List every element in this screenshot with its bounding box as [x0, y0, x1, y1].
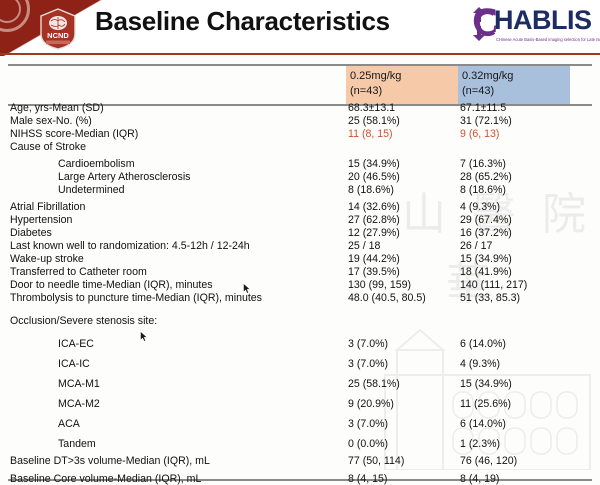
row-label: Undetermined	[58, 184, 125, 196]
column-header-dose-025-label: 0.25mg/kg	[350, 70, 401, 82]
svg-text:NCND: NCND	[47, 31, 69, 40]
row-value-dose-032: 8 (4, 19)	[460, 473, 499, 485]
table-row: Age, yrs-Mean (SD)68.3±13.167.1±11.5	[0, 102, 600, 115]
row-label: Tandem	[58, 438, 96, 450]
row-value-dose-025: 14 (32.6%)	[348, 201, 400, 213]
table-row: Door to needle time-Median (IQR), minute…	[0, 279, 600, 292]
table-row: Thrombolysis to puncture time-Median (IQ…	[0, 292, 600, 305]
table-row: Cardioembolism15 (34.9%)7 (16.3%)	[0, 158, 600, 171]
row-value-dose-032: 67.1±11.5	[460, 102, 506, 114]
row-label: Age, yrs-Mean (SD)	[10, 102, 104, 114]
row-label: Baseline DT>3s volume-Median (IQR), mL	[10, 455, 210, 467]
table-row: Last known well to randomization: 4.5-12…	[0, 240, 600, 253]
row-value-dose-032: 140 (111, 217)	[460, 279, 527, 291]
row-label: Male sex-No. (%)	[10, 115, 92, 127]
table-row: Hypertension27 (62.8%)29 (67.4%)	[0, 214, 600, 227]
row-value-dose-025: 25 (58.1%)	[348, 115, 400, 127]
column-header-dose-025: 0.25mg/kg (n=43)	[346, 66, 458, 104]
row-value-dose-032: 15 (34.9%)	[460, 253, 512, 265]
table-row: Large Artery Atherosclerosis20 (46.5%)28…	[0, 171, 600, 184]
row-label: Diabetes	[10, 227, 52, 239]
page-title: Baseline Characteristics	[95, 6, 390, 37]
row-value-dose-025: 8 (4, 15)	[348, 473, 387, 485]
row-label: Wake-up stroke	[10, 253, 84, 265]
slide-header: NCND Baseline Characteristics C HABLIS C…	[0, 0, 600, 56]
ncnd-logo-icon: NCND	[38, 8, 78, 50]
mouse-cursor-icon	[243, 283, 251, 294]
row-label: Hypertension	[10, 214, 72, 226]
row-value-dose-032: 6 (14.0%)	[460, 338, 506, 350]
chablis-wordmark: HABLIS	[494, 5, 592, 36]
row-label: Occlusion/Severe stenosis site:	[10, 315, 157, 327]
row-value-dose-032: 11 (25.6%)	[460, 398, 511, 410]
row-label: Last known well to randomization: 4.5-12…	[10, 240, 250, 252]
row-value-dose-025: 25 / 18	[348, 240, 380, 252]
row-value-dose-032: 76 (46, 120)	[460, 455, 517, 467]
row-label: Baseline Core volume-Median (IQR), mL	[10, 473, 201, 485]
row-value-dose-025: 77 (50, 114)	[348, 455, 404, 467]
row-value-dose-025: 20 (46.5%)	[348, 171, 400, 183]
row-value-dose-032: 29 (67.4%)	[460, 214, 512, 226]
row-value-dose-025: 9 (20.9%)	[348, 398, 394, 410]
row-value-dose-032: 4 (9.3%)	[460, 201, 500, 213]
row-value-dose-032: 7 (16.3%)	[460, 158, 506, 170]
table-row: Male sex-No. (%)25 (58.1%)31 (72.1%)	[0, 115, 600, 128]
row-value-dose-032: 4 (9.3%)	[460, 358, 500, 370]
header-divider	[0, 53, 600, 55]
table-row: Baseline DT>3s volume-Median (IQR), mL77…	[0, 455, 600, 468]
row-value-dose-025: 11 (8, 15)	[348, 128, 393, 140]
row-value-dose-032: 9 (6, 13)	[460, 128, 499, 140]
row-label: Thrombolysis to puncture time-Median (IQ…	[10, 292, 262, 304]
table-row: ACA3 (7.0%)6 (14.0%)	[0, 418, 600, 431]
row-value-dose-025: 15 (34.9%)	[348, 158, 400, 170]
table-row: NIHSS score-Median (IQR)11 (8, 15)9 (6, …	[0, 128, 600, 141]
presentation-slide: 山 醫 院 華	[0, 0, 600, 485]
table-row: ICA-EC3 (7.0%)6 (14.0%)	[0, 338, 600, 351]
row-value-dose-025: 68.3±13.1	[348, 102, 395, 114]
row-value-dose-025: 130 (99, 159)	[348, 279, 411, 291]
column-header-dose-025-n: (n=43)	[350, 84, 458, 99]
mouse-cursor-icon	[140, 331, 148, 342]
row-value-dose-025: 3 (7.0%)	[348, 358, 388, 370]
row-label: Door to needle time-Median (IQR), minute…	[10, 279, 213, 291]
row-value-dose-025: 8 (18.6%)	[348, 184, 394, 196]
table-row: MCA-M125 (58.1%)15 (34.9%)	[0, 378, 600, 391]
row-label: Cause of Stroke	[10, 141, 86, 153]
row-label: ICA-IC	[58, 358, 90, 370]
row-label: MCA-M1	[58, 378, 100, 390]
baseline-characteristics-table: 0.25mg/kg (n=43) 0.32mg/kg (n=43) Age, y…	[0, 60, 600, 485]
chablis-study-logo: C HABLIS CHinese Acute Basis-Based imagi…	[472, 3, 598, 49]
table-row: Tandem0 (0.0%)1 (2.3%)	[0, 438, 600, 451]
table-row: Cause of Stroke	[0, 141, 600, 154]
row-value-dose-032: 16 (37.2%)	[460, 227, 512, 239]
row-label: ICA-EC	[58, 338, 94, 350]
row-value-dose-032: 28 (65.2%)	[460, 171, 512, 183]
row-value-dose-032: 6 (14.0%)	[460, 418, 506, 430]
row-value-dose-032: 18 (41.9%)	[460, 266, 512, 278]
table-row: MCA-M29 (20.9%)11 (25.6%)	[0, 398, 600, 411]
row-value-dose-032: 31 (72.1%)	[460, 115, 512, 127]
column-header-dose-032-n: (n=43)	[462, 84, 570, 99]
column-header-dose-032: 0.32mg/kg (n=43)	[458, 66, 570, 104]
table-row: Occlusion/Severe stenosis site:	[0, 315, 600, 328]
table-row: Diabetes12 (27.9%)16 (37.2%)	[0, 227, 600, 240]
table-row: Baseline Core volume-Median (IQR), mL8 (…	[0, 473, 600, 485]
table-row: Undetermined8 (18.6%)8 (18.6%)	[0, 184, 600, 197]
table-row: ICA-IC3 (7.0%)4 (9.3%)	[0, 358, 600, 371]
table-row: Wake-up stroke19 (44.2%)15 (34.9%)	[0, 253, 600, 266]
row-value-dose-025: 19 (44.2%)	[348, 253, 400, 265]
corner-seal-icon	[0, 0, 30, 32]
row-value-dose-032: 1 (2.3%)	[460, 438, 500, 450]
table-row: Atrial Fibrillation14 (32.6%)4 (9.3%)	[0, 201, 600, 214]
row-label: Large Artery Atherosclerosis	[58, 171, 190, 183]
row-value-dose-025: 3 (7.0%)	[348, 338, 388, 350]
row-label: Cardioembolism	[58, 158, 135, 170]
row-label: MCA-M2	[58, 398, 100, 410]
row-label: Atrial Fibrillation	[10, 201, 85, 213]
row-label: NIHSS score-Median (IQR)	[10, 128, 138, 140]
row-label: ACA	[58, 418, 80, 430]
row-value-dose-032: 8 (18.6%)	[460, 184, 506, 196]
row-value-dose-025: 17 (39.5%)	[348, 266, 400, 278]
row-value-dose-025: 12 (27.9%)	[348, 227, 400, 239]
row-value-dose-032: 15 (34.9%)	[460, 378, 512, 390]
table-row: Transferred to Catheter room17 (39.5%)18…	[0, 266, 600, 279]
row-value-dose-025: 25 (58.1%)	[348, 378, 400, 390]
row-value-dose-032: 51 (33, 85.3)	[460, 292, 520, 304]
row-value-dose-025: 48.0 (40.5, 80.5)	[348, 292, 426, 304]
chablis-tagline: CHinese Acute Basis-Based imaging select…	[496, 37, 600, 42]
row-label: Transferred to Catheter room	[10, 266, 147, 278]
row-value-dose-032: 26 / 17	[460, 240, 492, 252]
row-value-dose-025: 0 (0.0%)	[348, 438, 388, 450]
column-header-dose-032-label: 0.32mg/kg	[462, 70, 513, 82]
row-value-dose-025: 27 (62.8%)	[348, 214, 400, 226]
row-value-dose-025: 3 (7.0%)	[348, 418, 388, 430]
